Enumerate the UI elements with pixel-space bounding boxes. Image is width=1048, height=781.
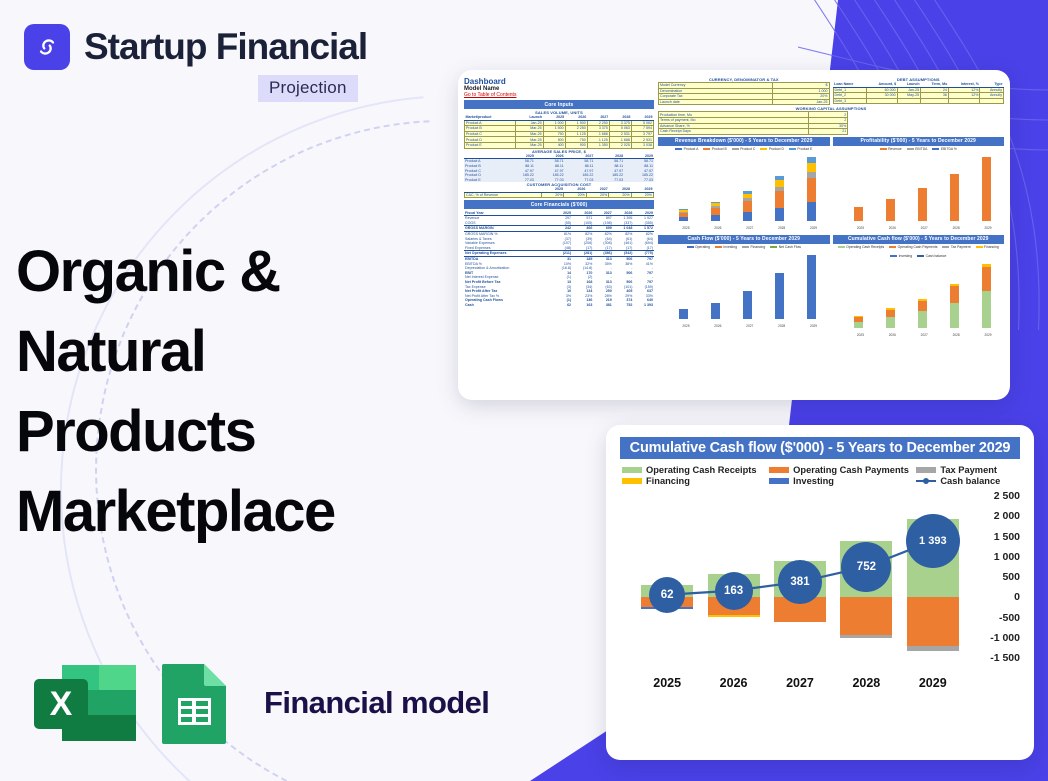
bar [711,303,720,318]
debt-panel: DEBT ASSUMPTIONS Loan NameAmount, $Launc… [833,77,1005,105]
x-tick: 2029 [907,676,959,690]
bar [950,174,959,221]
y-tick: 500 [1002,571,1020,583]
brand-badge: Projection [258,75,358,102]
legend-item: Product E [789,147,812,151]
table-row: Product EMar-254009001 3502 0253 038 [465,142,654,148]
bar [807,157,816,221]
y-axis: 2 5002 0001 5001 0005000-500-1 000-1 500 [970,496,1020,658]
e-swirl-logo-icon [24,24,70,70]
legend-item: Financing [622,476,763,486]
bar [918,299,927,328]
bar [743,291,752,319]
x-axis: 20252026202720282029 [634,676,966,690]
table-row: Cash621633817521 393 [464,303,654,308]
y-tick: 0 [1014,591,1020,603]
google-sheets-icon [158,662,230,744]
chart-title: Cumulative Cash flow ($'000) - 5 Years t… [620,437,1020,459]
y-tick: 2 000 [994,510,1020,522]
cumulative-cash-flow-mini-chart: Cumulative Cash flow ($'000) - 5 Years t… [833,233,1005,337]
y-tick: -1 500 [990,652,1020,664]
format-badges: X Financial model [32,662,489,744]
legend-item: Operating Cash Payments [769,465,910,475]
legend-item: Product B [703,147,726,151]
revenue-breakdown-chart: Revenue Breakdown ($'000) - 5 Years to D… [658,135,830,230]
bar [950,284,959,328]
bar [918,188,927,221]
bar [807,255,816,319]
bar [886,199,895,221]
legend-item: Operating Cash Payments [889,245,937,249]
cumulative-mini-title: Cumulative Cash flow ($'000) - 5 Years t… [833,235,1005,244]
format-label: Financial model [264,685,489,721]
microsoft-excel-icon: X [32,663,138,743]
dashboard-title: Dashboard [464,77,654,86]
legend-item: Operating Cash Receipts [838,245,884,249]
table-of-contents-link[interactable]: Go to Table of Contents [464,92,654,98]
y-tick: -500 [999,612,1020,624]
legend-item: Revenue [880,147,902,151]
legend-item: Investing [715,245,737,249]
x-tick: 2028 [840,676,892,690]
data-label: 62 [649,577,685,613]
legend-item: Investing [769,476,910,486]
legend-item: Product C [732,147,756,151]
core-financials-band: Core Financials ($'000) [464,200,654,209]
sales-volume-table: Market/productLaunch20252026202720282029… [464,115,654,149]
cac-table: 20252026202720282029CAC, % of Revenue20%… [464,187,654,198]
legend-item: Tax Payment [942,245,970,249]
core-inputs-band: Core Inputs [464,100,654,109]
dashboard-left-column: Dashboard Model Name Go to Table of Cont… [464,77,654,393]
table-row: Launch dateJan-25 [659,99,830,105]
legend-item: Tax Payment [916,465,1018,475]
svg-text:X: X [50,685,73,723]
bar [854,207,863,220]
x-tick: 2025 [641,676,693,690]
cumulative-cash-flow-card[interactable]: Cumulative Cash flow ($'000) - 5 Years t… [606,425,1034,760]
chart-legend: Operating Cash ReceiptsOperating Cash Pa… [622,465,1018,486]
legend-item: Cash balance [917,254,946,258]
y-tick: 1 500 [994,531,1020,543]
y-tick: 2 500 [994,490,1020,502]
bar [743,191,752,220]
legend-item: Cash balance [916,476,1018,486]
bar [711,202,720,221]
y-tick: 1 000 [994,551,1020,563]
data-label: 381 [778,560,822,604]
working-capital-panel: WORKING CAPITAL ASSUMPTIONS Production t… [658,106,1004,134]
cash-flow-chart: Cash Flow ($'000) - 5 Years to December … [658,233,830,337]
legend-item: Financing [742,245,765,249]
bar [679,209,688,221]
core-financials-table: Fiscal Year20252026202720282029Revenue29… [464,210,654,307]
legend-item: Product A [675,147,698,151]
legend-item: Operating [687,245,710,249]
legend-item: Investing [890,254,912,258]
legend-item: Product D [760,147,784,151]
legend-item: Net Cash Flow [770,245,801,249]
dashboard-right-column: CURRENCY, DENOMINATOR & TAX Model Curren… [658,77,1004,393]
y-tick: -1 000 [990,632,1020,644]
cash-flow-title: Cash Flow ($'000) - 5 Years to December … [658,235,830,244]
legend-item: EBITDA % [932,147,957,151]
avg-price-table: 20252026202720282029Product A58.7158.715… [464,154,654,183]
data-label: 752 [841,542,891,592]
revenue-breakdown-title: Revenue Breakdown ($'000) - 5 Years to D… [658,137,830,146]
currency-panel: CURRENCY, DENOMINATOR & TAX Model Curren… [658,77,830,105]
legend-item: Operating Cash Receipts [622,465,763,475]
bar [982,264,991,328]
x-tick: 2027 [774,676,826,690]
legend-item: Financing [976,245,999,249]
bar [982,157,991,221]
legend-item: EBITDA [907,147,928,151]
bar [775,176,784,221]
bar [886,308,895,327]
dashboard-preview-card[interactable]: Dashboard Model Name Go to Table of Cont… [458,70,1010,400]
table-row: Cash Receipt Days21 [659,129,848,135]
brand-name: Startup Financial [84,26,367,68]
data-label: 1 393 [906,514,960,568]
bar [854,316,863,328]
data-label: 163 [715,572,753,610]
bar [775,273,784,319]
profitability-chart: Profitability ($'000) - 5 Years to Decem… [833,135,1005,230]
bar [679,309,688,319]
chart-plot-area: 2 5002 0001 5001 0005000-500-1 000-1 500… [620,496,1020,692]
profitability-title: Profitability ($'000) - 5 Years to Decem… [833,137,1005,146]
table-row: Debt_3 [833,98,1004,104]
page-title: Organic & Natural Products Marketplace [16,232,416,552]
x-tick: 2026 [708,676,760,690]
brand-logo: Startup Financial [24,24,367,70]
table-row: CAC, % of Revenue20%20%20%20%20% [465,192,654,198]
